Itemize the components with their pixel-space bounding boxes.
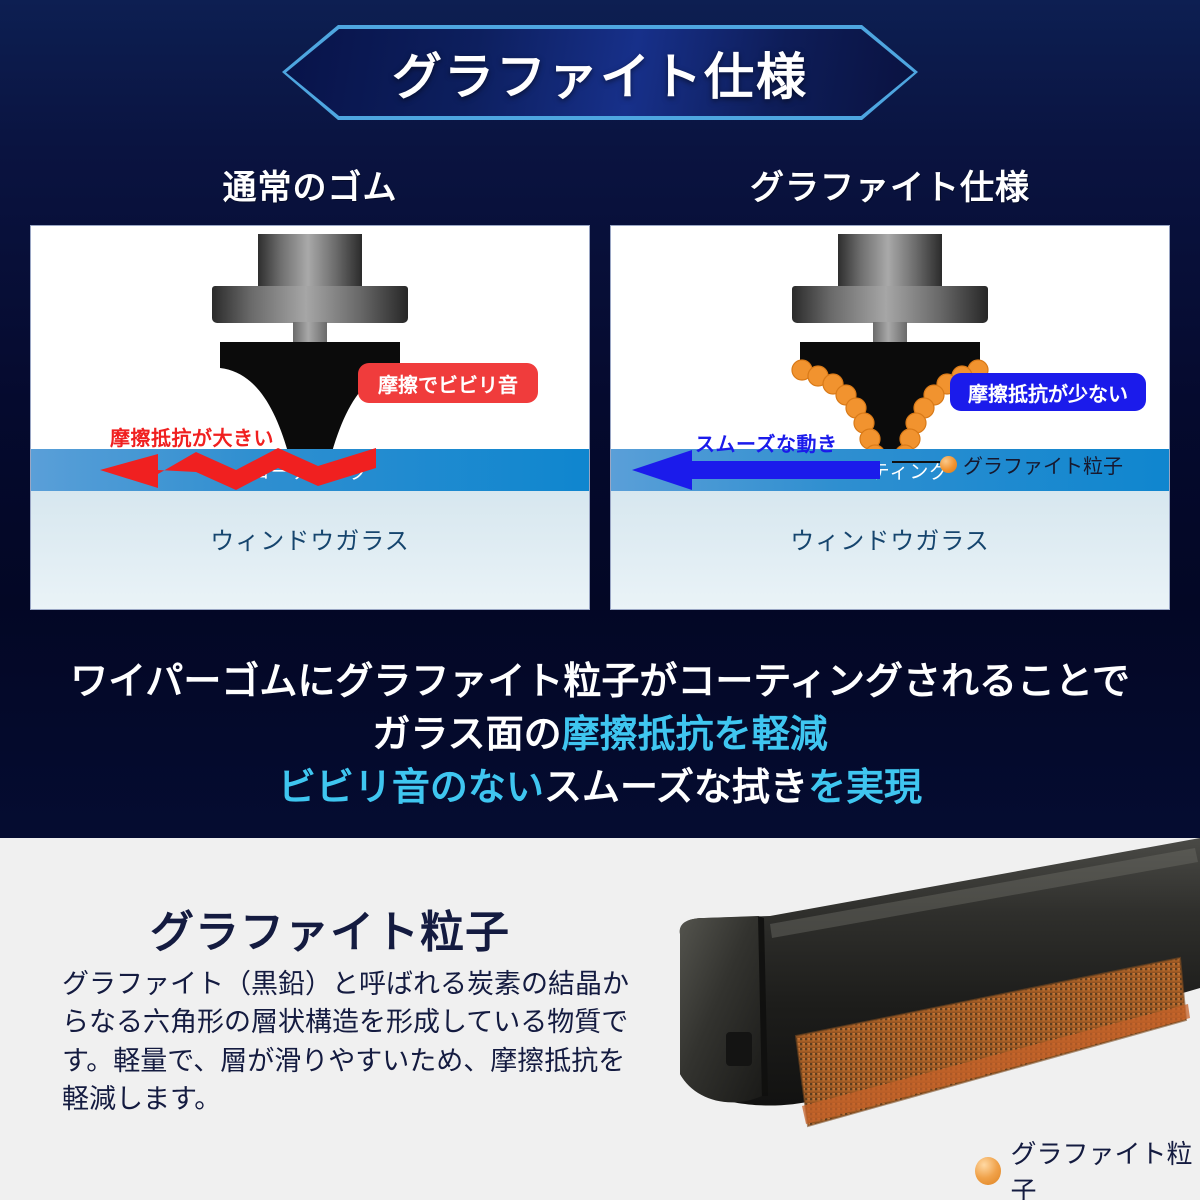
summary-line-3-highlight-b: を実現 [808, 765, 922, 809]
summary-line-3: ビビリ音のないスムーズな拭きを実現 [0, 756, 1200, 811]
diagram-panel-normal-rubber: コーティング ウィンドウガラス [30, 225, 590, 610]
diagram-panel-graphite: コーティング ウィンドウガラス [610, 225, 1170, 610]
graphite-particle-dot-icon [940, 456, 957, 473]
bottom-section-title: グラファイト粒子 [150, 896, 510, 960]
wiper-cylinder-icon [838, 234, 942, 290]
glass-label-right: ウィンドウガラス [790, 521, 990, 556]
bottom-light-section: グラファイト粒子 グラファイト（黒鉛）と呼ばれる炭素の結晶からなる六角形の層状構… [0, 838, 1200, 1200]
summary-line-3-highlight-a: ビビリ音のない [278, 765, 544, 809]
wiper-flange-icon [212, 286, 408, 323]
bottom-section-body: グラファイト（黒鉛）と呼ばれる炭素の結晶からなる六角形の層状構造を形成している物… [62, 966, 632, 1119]
bottom-legend-label: グラファイト粒子 [1011, 1134, 1200, 1200]
wiper-cylinder-icon [258, 234, 362, 290]
glass-layer-right: ウィンドウガラス [611, 491, 1169, 609]
wiper-neck-icon [873, 322, 907, 344]
glass-label-left: ウィンドウガラス [210, 521, 410, 556]
banner-title-text: グラファイト仕様 [282, 25, 918, 120]
badge-low-friction: 摩擦抵抗が少ない [950, 373, 1146, 411]
panel-heading-normal-rubber: 通常のゴム [30, 160, 590, 209]
summary-line-1-text: ワイパーゴムにグラファイト粒子がコーティングされることで [70, 659, 1130, 703]
zigzag-arrow-left-icon [96, 440, 376, 492]
wiper-neck-icon [293, 322, 327, 344]
arrow-left-icon [630, 448, 880, 492]
title-banner: グラファイト仕様 [282, 25, 918, 120]
blade-notch [726, 1032, 752, 1066]
panel-heading-graphite: グラファイト仕様 [610, 160, 1170, 209]
graphite-particle-dot-icon [975, 1157, 1001, 1185]
summary-line-3-mid: スムーズな拭き [544, 765, 808, 809]
summary-line-2-highlight: 摩擦抵抗を軽減 [562, 712, 828, 756]
summary-line-2-prefix: ガラス面の [372, 712, 561, 756]
graphite-particle-legend: グラファイト粒子 [975, 1134, 1200, 1200]
summary-line-2: ガラス面の摩擦抵抗を軽減 [0, 703, 1200, 758]
graphite-particle-legend-inline: グラファイト粒子 [940, 450, 1123, 479]
summary-line-1: ワイパーゴムにグラファイト粒子がコーティングされることで [0, 650, 1200, 705]
wiper-flange-icon [792, 286, 988, 323]
wiper-blade-photo [620, 838, 1200, 1178]
graphite-spec-infographic: グラファイト仕様 通常のゴム グラファイト仕様 [0, 0, 1200, 1200]
badge-friction-noise: 摩擦でビビリ音 [358, 363, 538, 403]
legend-leader-line [892, 461, 940, 463]
top-navy-section: グラファイト仕様 通常のゴム グラファイト仕様 [0, 0, 1200, 838]
legend-label-inline: グラファイト粒子 [963, 450, 1123, 479]
glass-layer-left: ウィンドウガラス [31, 491, 589, 609]
blade-end-cap [680, 916, 762, 1102]
